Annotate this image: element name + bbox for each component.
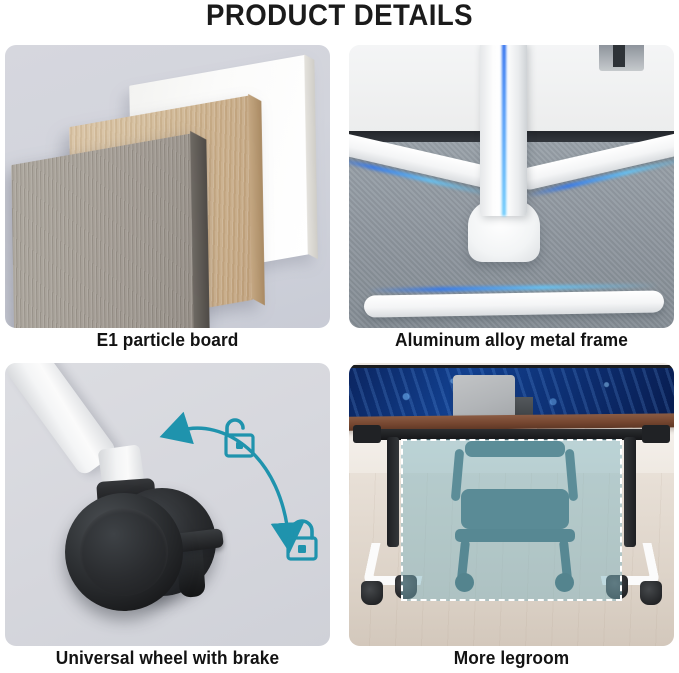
detail-cell-particle-board: E1 particle board [5, 45, 330, 328]
detail-cell-more-legroom: More legroom [349, 363, 674, 611]
caption-universal-wheel: Universal wheel with brake [12, 648, 324, 669]
more-legroom-image [349, 363, 674, 646]
particle-board-image [5, 45, 330, 328]
product-details-grid: E1 particle board Aluminum alloy metal f… [5, 45, 674, 663]
detail-cell-universal-wheel: Universal wheel with brake [5, 363, 330, 611]
lock-icon [282, 518, 322, 564]
desk-post-left [387, 437, 399, 547]
page-title: PRODUCT DETAILS [27, 0, 652, 33]
unlock-icon [215, 415, 257, 461]
desk-caster-front-right [640, 581, 662, 605]
board-gray [11, 133, 195, 328]
desk-post-right [624, 437, 636, 547]
frame-wall-fixture [599, 45, 644, 71]
desk-bracket-left [353, 425, 381, 443]
detail-cell-aluminum-frame: Aluminum alloy metal frame [349, 45, 674, 328]
aluminum-frame-image [349, 45, 674, 328]
board-gray-face [11, 133, 195, 328]
caption-aluminum-frame: Aluminum alloy metal frame [356, 330, 668, 351]
caption-particle-board: E1 particle board [12, 330, 324, 351]
desk-bracket-right [642, 425, 670, 443]
universal-wheel-image [5, 363, 330, 646]
frame-vertical-column [480, 45, 527, 216]
desk-caster-front-left [361, 581, 383, 605]
legroom-highlight-area [401, 439, 622, 601]
caption-more-legroom: More legroom [356, 648, 668, 669]
